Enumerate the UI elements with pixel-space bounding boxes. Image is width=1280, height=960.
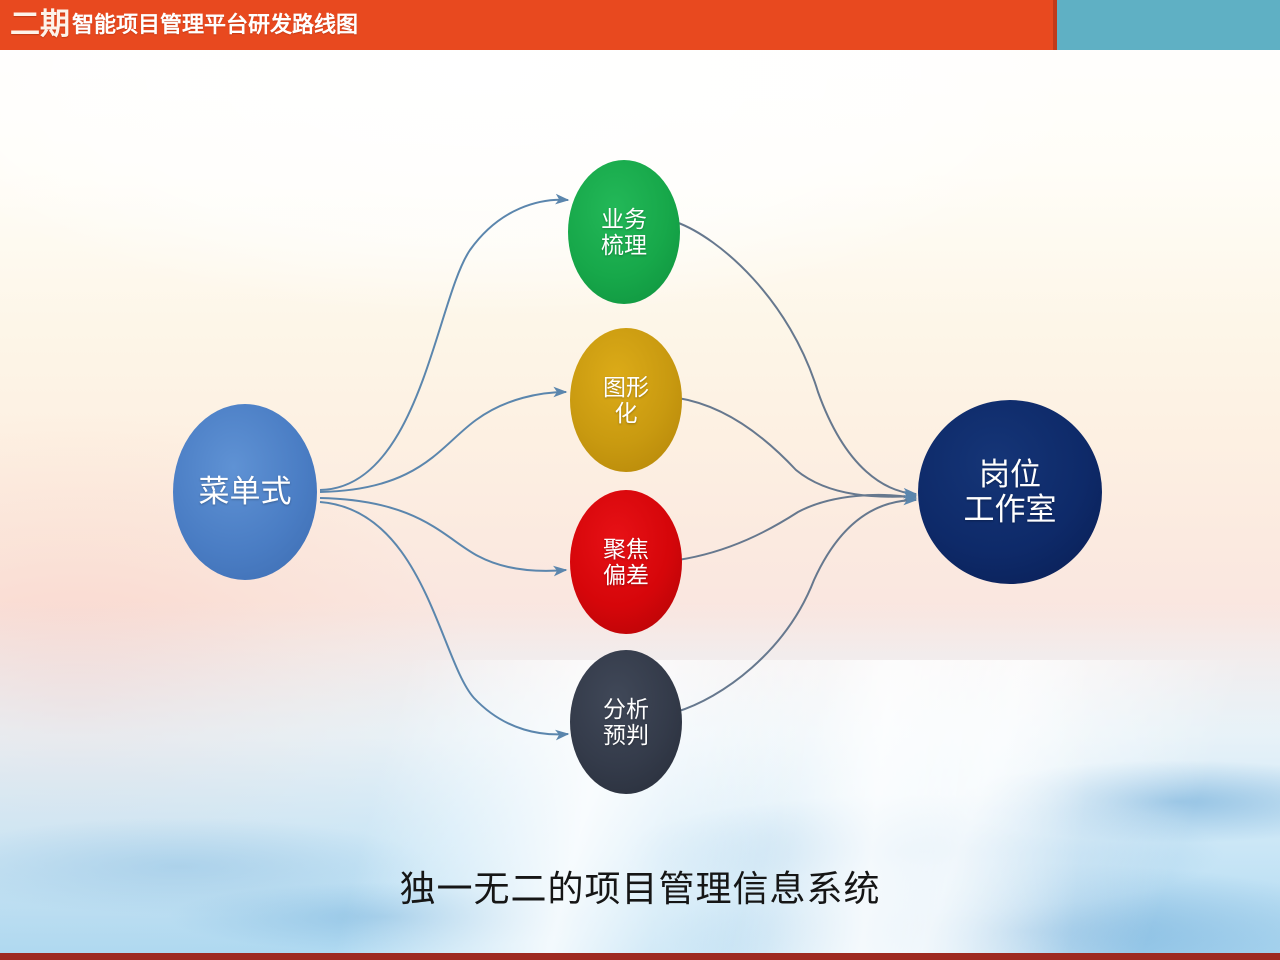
slide-caption: 独一无二的项目管理信息系统 — [0, 860, 1280, 912]
connector-stage-3-to-target — [676, 500, 916, 712]
connector-source-to-stage-1 — [320, 392, 566, 492]
slide-canvas: 二期 智能项目管理平台研发路线图 — [0, 0, 1280, 960]
node-stage-business-review[interactable] — [568, 160, 680, 304]
connector-source-to-stage-2 — [320, 498, 566, 571]
connector-stage-2-to-target — [678, 495, 916, 560]
connector-source-to-stage-3 — [320, 502, 568, 734]
connector-stage-0-to-target — [676, 222, 916, 494]
bottom-accent-bar — [0, 953, 1280, 960]
flow-diagram — [0, 0, 1280, 960]
node-stage-analysis-prediction[interactable] — [570, 650, 682, 794]
connector-group-incoming — [676, 222, 916, 712]
node-target-post-studio[interactable] — [918, 400, 1102, 584]
node-stage-visualization[interactable] — [570, 328, 682, 472]
node-source-menu[interactable] — [173, 404, 317, 580]
node-stage-focus-deviation[interactable] — [570, 490, 682, 634]
connector-group-outgoing — [320, 200, 568, 735]
